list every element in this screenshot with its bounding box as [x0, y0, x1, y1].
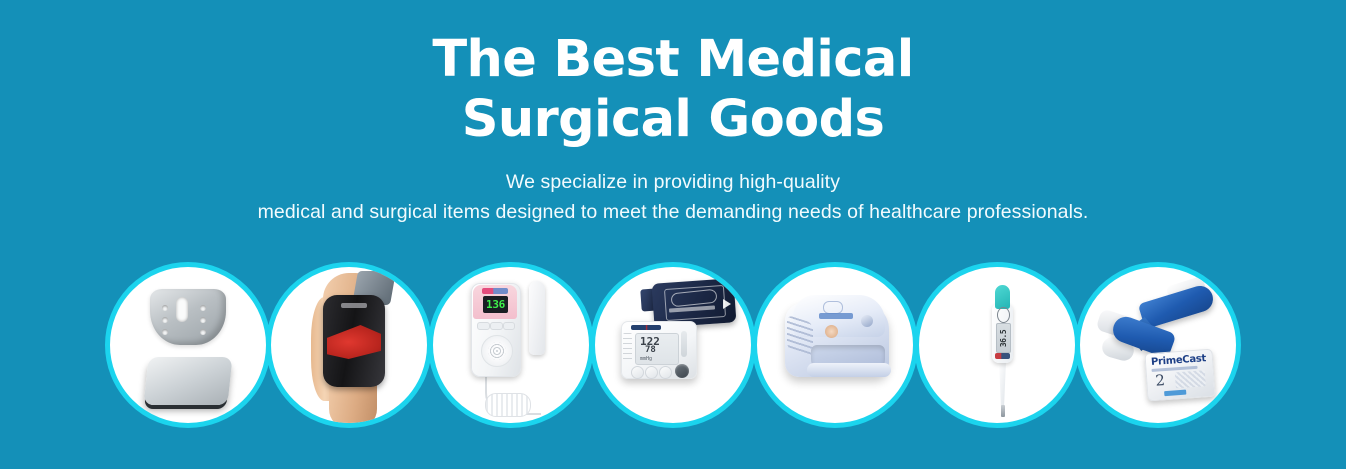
product-circle-orthopedic-support[interactable]	[105, 262, 271, 428]
page-subtitle-line-2: medical and surgical items designed to m…	[0, 197, 1346, 227]
orthopedic-support-icon	[110, 267, 266, 423]
fetal-doppler-icon: 136	[433, 267, 589, 423]
primecast-package: PrimeCast 2	[1144, 349, 1215, 402]
page-subtitle: We specialize in providing high-quality …	[0, 150, 1346, 227]
product-circle-fetal-doppler[interactable]: 136	[428, 262, 594, 428]
doppler-reading: 136	[486, 299, 505, 310]
hero-copy: The Best Medical Surgical Goods We speci…	[0, 0, 1346, 227]
thermometer-reading: 36.5	[999, 329, 1008, 346]
product-circle-nebulizer[interactable]	[752, 262, 918, 428]
page-title: The Best Medical Surgical Goods	[0, 0, 1346, 150]
digital-thermometer-icon: 36.5	[919, 267, 1075, 423]
blood-pressure-monitor-icon: 122 78 mmHg	[595, 267, 751, 423]
product-circle-knee-brace[interactable]	[266, 262, 432, 428]
knee-brace-icon	[271, 267, 427, 423]
page-title-line-1: The Best Medical	[432, 30, 913, 89]
fiberglass-cast-icon: PrimeCast 2	[1080, 267, 1236, 423]
hero-banner: The Best Medical Surgical Goods We speci…	[0, 0, 1346, 469]
product-circle-row: 136 122 78 mmHg	[105, 262, 1241, 430]
bp-unit-label: mmHg	[640, 356, 652, 362]
page-title-line-2: Surgical Goods	[0, 90, 1346, 150]
page-subtitle-line-1: We specialize in providing high-quality	[506, 171, 840, 193]
primecast-size-label: 2	[1155, 373, 1166, 389]
nebulizer-icon	[757, 267, 913, 423]
product-circle-fiberglass-cast[interactable]: PrimeCast 2	[1075, 262, 1241, 428]
product-circle-bp-monitor[interactable]: 122 78 mmHg	[590, 262, 756, 428]
product-circle-thermometer[interactable]: 36.5	[914, 262, 1080, 428]
bp-diastolic-reading: 78	[645, 346, 656, 355]
primecast-brand-label: PrimeCast	[1151, 354, 1207, 368]
